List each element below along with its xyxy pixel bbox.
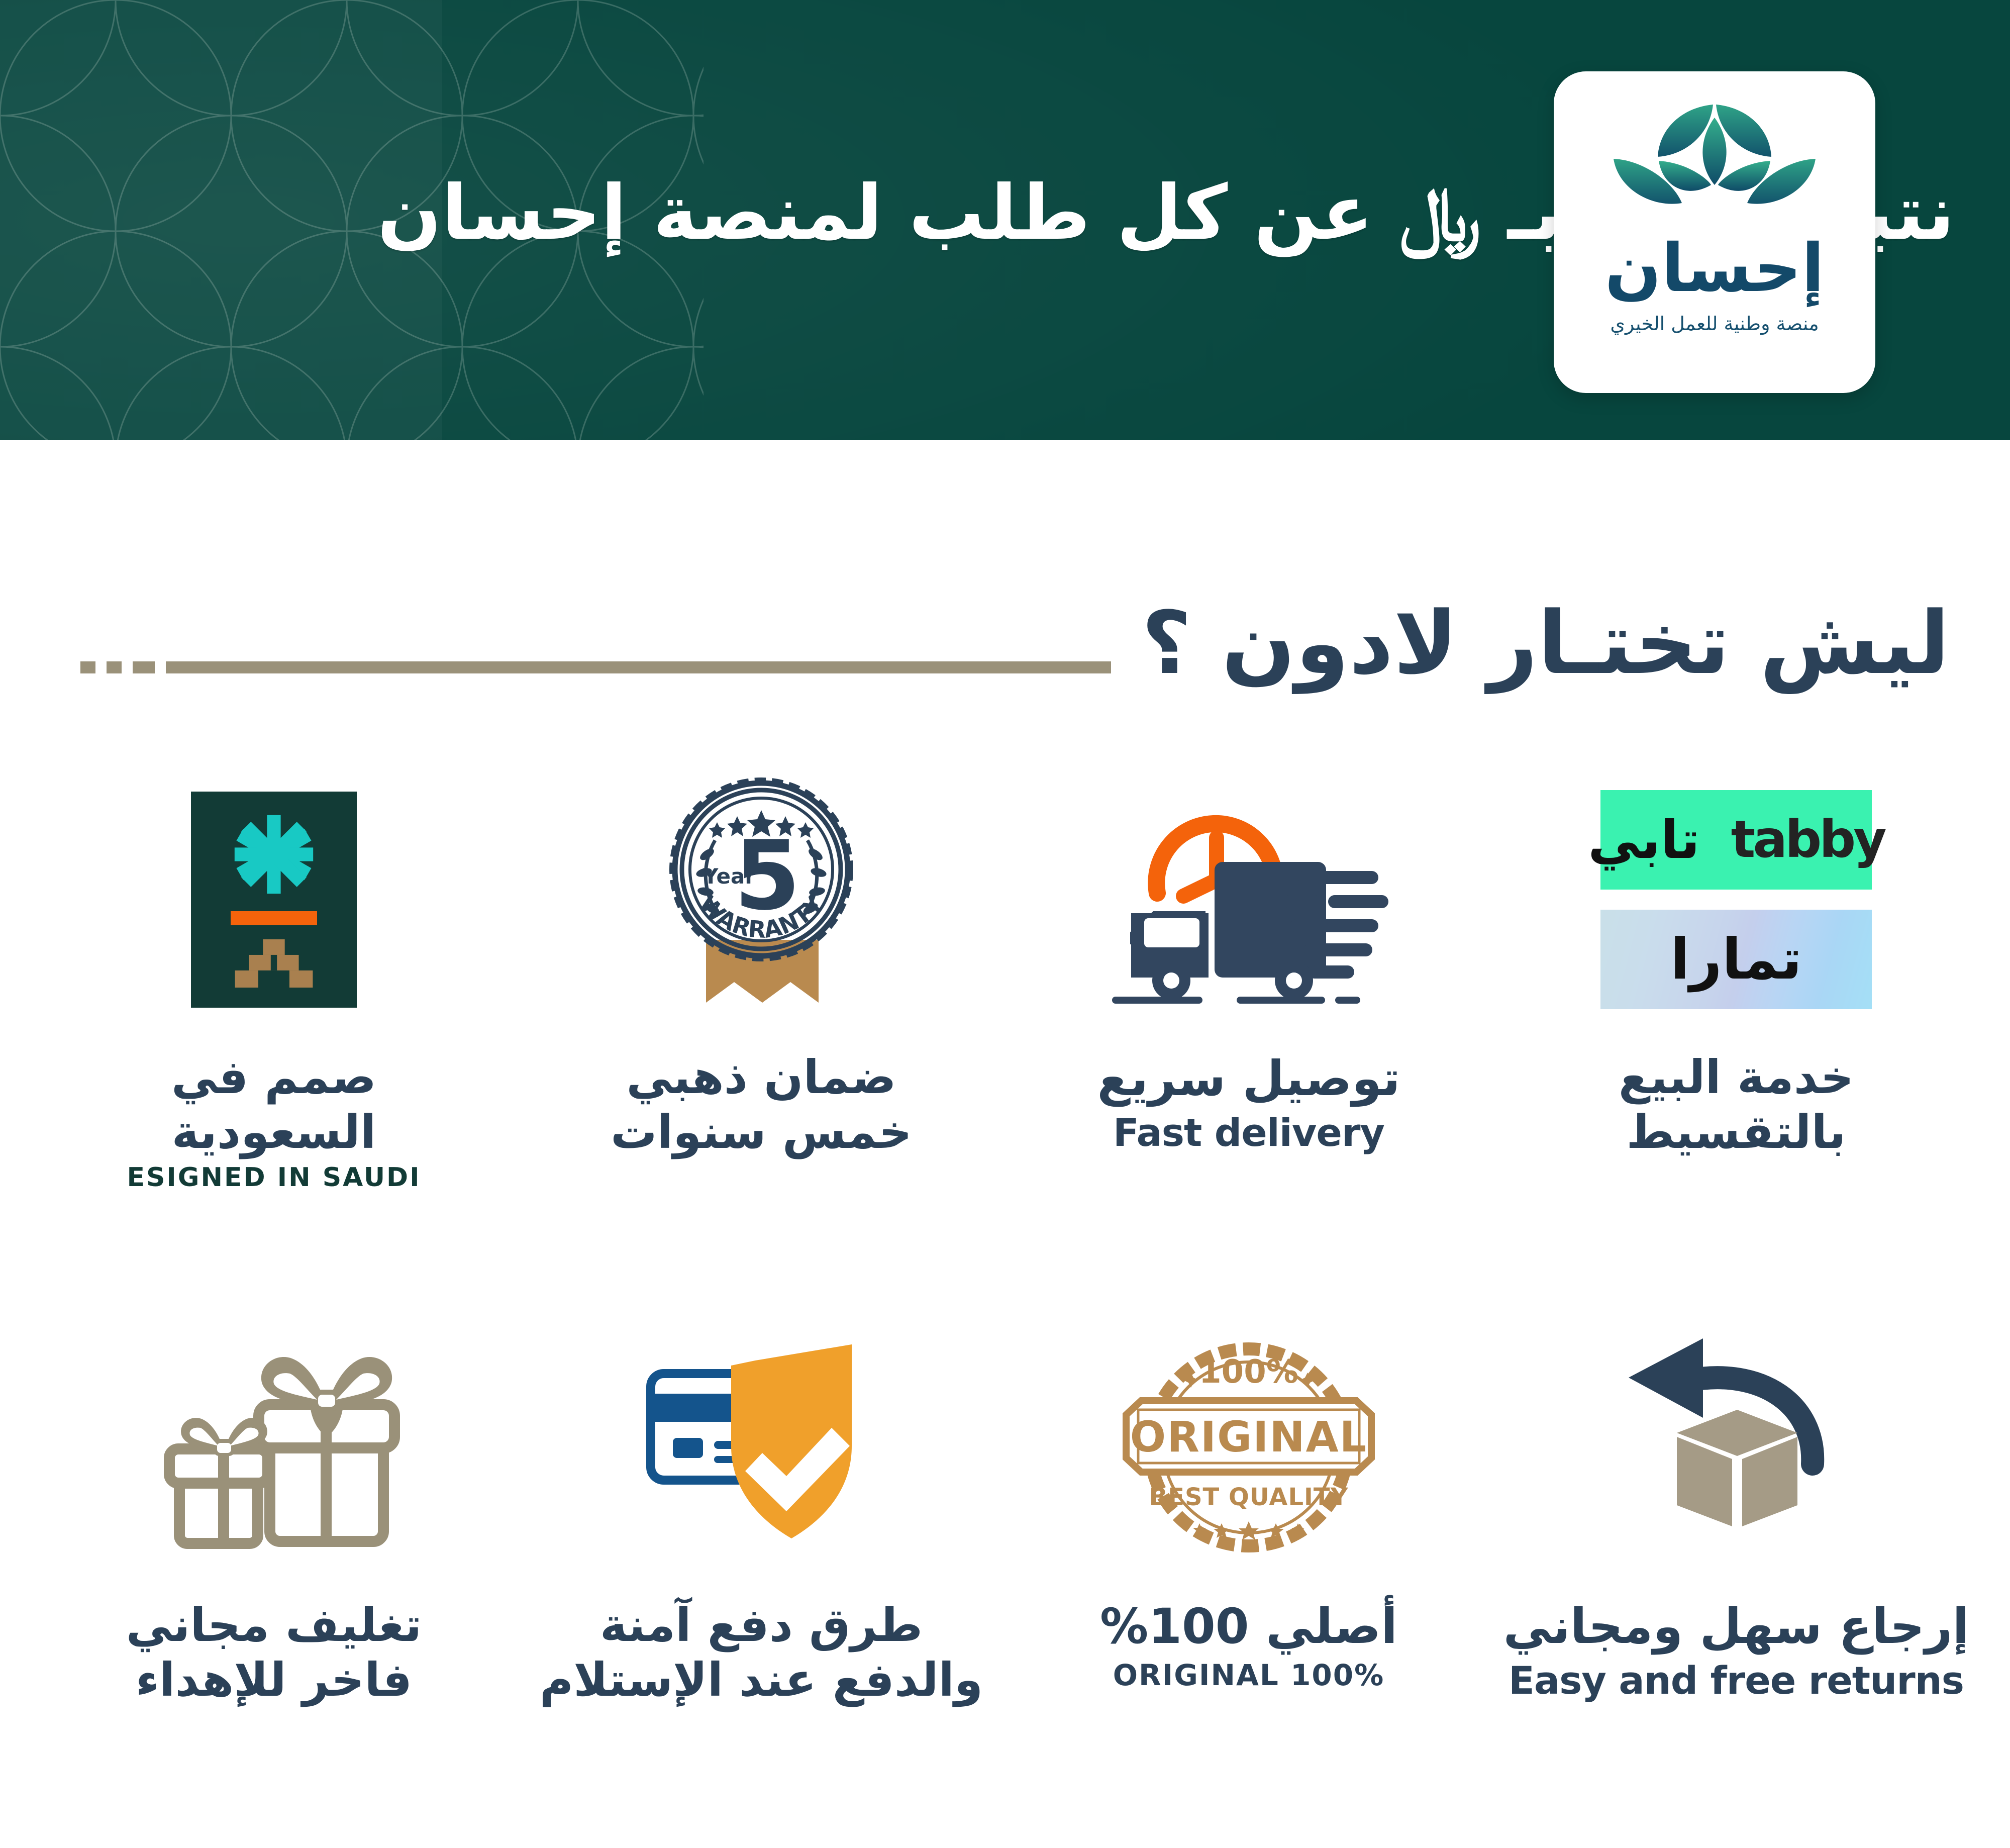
rule-dash-1 bbox=[133, 661, 155, 673]
asterisk-icon bbox=[231, 812, 317, 897]
rule-dash-2 bbox=[107, 661, 122, 673]
feature-fast-delivery[interactable]: توصيل سريع Fast delivery bbox=[1005, 749, 1492, 1297]
ehsan-wordmark: إحسان bbox=[1605, 235, 1825, 302]
return-box-arrow-icon bbox=[1501, 1297, 1971, 1598]
banner-headline-part2: عن كل طلب لمنصة إحسان bbox=[377, 169, 1399, 257]
caption-ar-line1: تغليف مجاني bbox=[126, 1598, 422, 1653]
warranty-unit-label: Year bbox=[702, 864, 755, 889]
caption-ar-line1: توصيل سريع bbox=[1097, 1050, 1400, 1107]
delivery-truck-clock-icon bbox=[1014, 749, 1483, 1050]
rule-line-solid bbox=[166, 661, 1111, 673]
caption-ar-line1: خدمة البيع bbox=[1619, 1050, 1854, 1105]
feature-caption: طرق دفع آمنة والدفع عند الإستلام bbox=[540, 1598, 983, 1707]
stamp-main-text: ORIGINAL bbox=[1130, 1412, 1367, 1462]
caption-ar-line1: إرجاع سهل ومجاني bbox=[1503, 1598, 1969, 1655]
rule-dash-3 bbox=[80, 661, 95, 673]
feature-designed-in-saudi[interactable]: صمم في السعودية ESIGNED IN SAUDI bbox=[30, 749, 518, 1297]
caption-ar-line2: خمس سنوات bbox=[611, 1105, 912, 1160]
feature-warranty[interactable]: 5 Year WARRANTY ضمان ذهبي خمس سنوات bbox=[518, 749, 1005, 1297]
caption-ar-line2: والدفع عند الإستلام bbox=[540, 1653, 983, 1708]
saudi-riyal-symbol-icon: ﷼ bbox=[1399, 172, 1481, 257]
feature-caption: أصلي 100% 100% ORIGINAL bbox=[1100, 1598, 1397, 1693]
tabby-arabic-label: تابي bbox=[1588, 814, 1699, 866]
tamara-arabic-label: تمارا bbox=[1670, 931, 1802, 988]
feature-caption: خدمة البيع بالتقسيط bbox=[1619, 1050, 1854, 1159]
tamara-badge[interactable]: تمارا bbox=[1600, 910, 1872, 1009]
orange-bar-icon bbox=[231, 911, 317, 925]
caption-en: Fast delivery bbox=[1097, 1110, 1400, 1155]
feature-free-gift-wrap[interactable]: تغليف مجاني فاخر للإهداء bbox=[30, 1297, 518, 1844]
section-heading: ليش تختـار لادون ؟ bbox=[0, 563, 2010, 724]
card-shield-check-icon bbox=[527, 1297, 996, 1598]
caption-ar-line1: صمم في bbox=[127, 1050, 421, 1105]
feature-returns[interactable]: إرجاع سهل ومجاني Easy and free returns bbox=[1492, 1297, 1980, 1844]
ehsan-leaf-mark-icon bbox=[1606, 101, 1823, 226]
tabby-latin-label: tabby bbox=[1731, 814, 1884, 865]
warranty-seal-icon: 5 Year WARRANTY bbox=[527, 749, 996, 1050]
feature-original[interactable]: ORIGINAL 100% BEST QUALITY أصلي 100% 100… bbox=[1005, 1297, 1492, 1844]
feature-caption: ضمان ذهبي خمس سنوات bbox=[611, 1050, 912, 1159]
caption-ar-line1: ضمان ذهبي bbox=[611, 1050, 912, 1105]
caption-ar-line2: فاخر للإهداء bbox=[126, 1653, 422, 1708]
bnpl-badges-icon: tabby تابي تمارا bbox=[1501, 749, 1971, 1050]
saudi-design-mark-icon bbox=[39, 749, 509, 1050]
promo-banner: نتبرع عنك بـ ﷼ عن كل طلب لمنصة إحسان bbox=[0, 0, 2010, 440]
caption-en: Easy and free returns bbox=[1503, 1658, 1969, 1703]
caption-ar-line1: طرق دفع آمنة bbox=[540, 1598, 983, 1653]
heading-rule bbox=[0, 661, 1141, 673]
tabby-badge[interactable]: tabby تابي bbox=[1600, 790, 1872, 890]
features-grid: tabby تابي تمارا خدمة البيع بالتقسيط bbox=[30, 749, 1980, 1844]
stamp-top-text: 100% bbox=[1199, 1353, 1298, 1391]
page-title: ليش تختـار لادون ؟ bbox=[1141, 600, 2010, 687]
caption-en: 100% ORIGINAL bbox=[1100, 1658, 1397, 1692]
caption-ar-line2: بالتقسيط bbox=[1619, 1105, 1854, 1160]
stepped-arch-icon bbox=[227, 939, 321, 988]
feature-caption: إرجاع سهل ومجاني Easy and free returns bbox=[1503, 1598, 1969, 1703]
feature-installments[interactable]: tabby تابي تمارا خدمة البيع بالتقسيط bbox=[1492, 749, 1980, 1297]
feature-secure-payment[interactable]: طرق دفع آمنة والدفع عند الإستلام bbox=[518, 1297, 1005, 1844]
original-stamp-icon: ORIGINAL 100% BEST QUALITY bbox=[1014, 1297, 1483, 1598]
caption-en: ESIGNED IN SAUDI bbox=[127, 1162, 421, 1193]
ehsan-tagline: منصة وطنية للعمل الخيري bbox=[1610, 313, 1819, 335]
stamp-bottom-text: BEST QUALITY bbox=[1149, 1483, 1349, 1511]
caption-ar-line2: السعودية bbox=[127, 1105, 421, 1160]
ehsan-logo-card: إحسان منصة وطنية للعمل الخيري bbox=[1554, 71, 1875, 393]
feature-caption: توصيل سريع Fast delivery bbox=[1097, 1050, 1400, 1155]
feature-caption: تغليف مجاني فاخر للإهداء bbox=[126, 1598, 422, 1707]
gift-boxes-icon bbox=[39, 1297, 509, 1598]
caption-ar-line1: أصلي 100% bbox=[1100, 1598, 1397, 1655]
feature-caption: صمم في السعودية ESIGNED IN SAUDI bbox=[127, 1050, 421, 1193]
